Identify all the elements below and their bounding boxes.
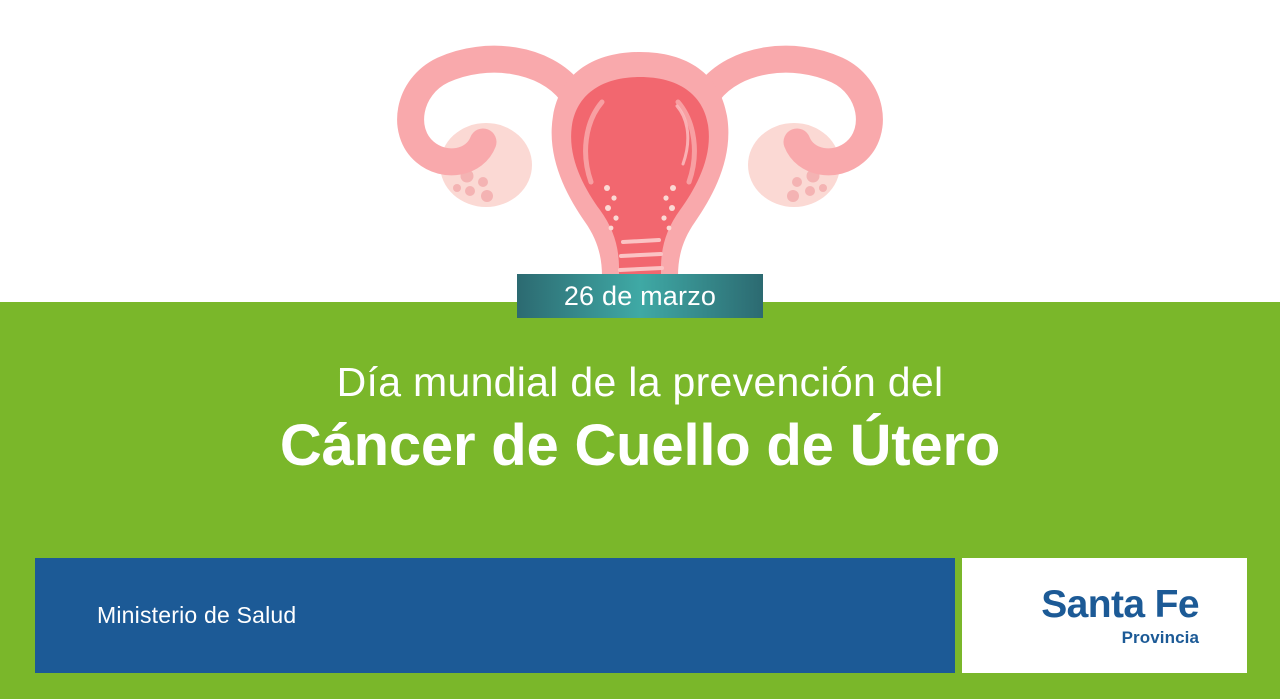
uterus-illustration [395, 30, 885, 302]
logo-primary-text: Santa Fe [1041, 585, 1199, 624]
awareness-poster: 26 de marzo Día mundial de la prevención… [0, 0, 1280, 699]
date-badge: 26 de marzo [517, 274, 763, 318]
santa-fe-logo: Santa Fe Provincia [962, 558, 1247, 673]
headline-subtitle: Día mundial de la prevención del [0, 358, 1280, 406]
ministry-label: Ministerio de Salud [97, 602, 296, 629]
fallopian-tube-right [709, 59, 869, 162]
headline-title: Cáncer de Cuello de Útero [0, 412, 1280, 479]
date-badge-label: 26 de marzo [564, 283, 716, 310]
illustration-area [0, 0, 1280, 302]
headline-block: Día mundial de la prevención del Cáncer … [0, 358, 1280, 480]
ministry-bar: Ministerio de Salud [35, 558, 955, 673]
logo-secondary-text: Provincia [1122, 629, 1199, 646]
fallopian-tube-left [411, 59, 571, 162]
